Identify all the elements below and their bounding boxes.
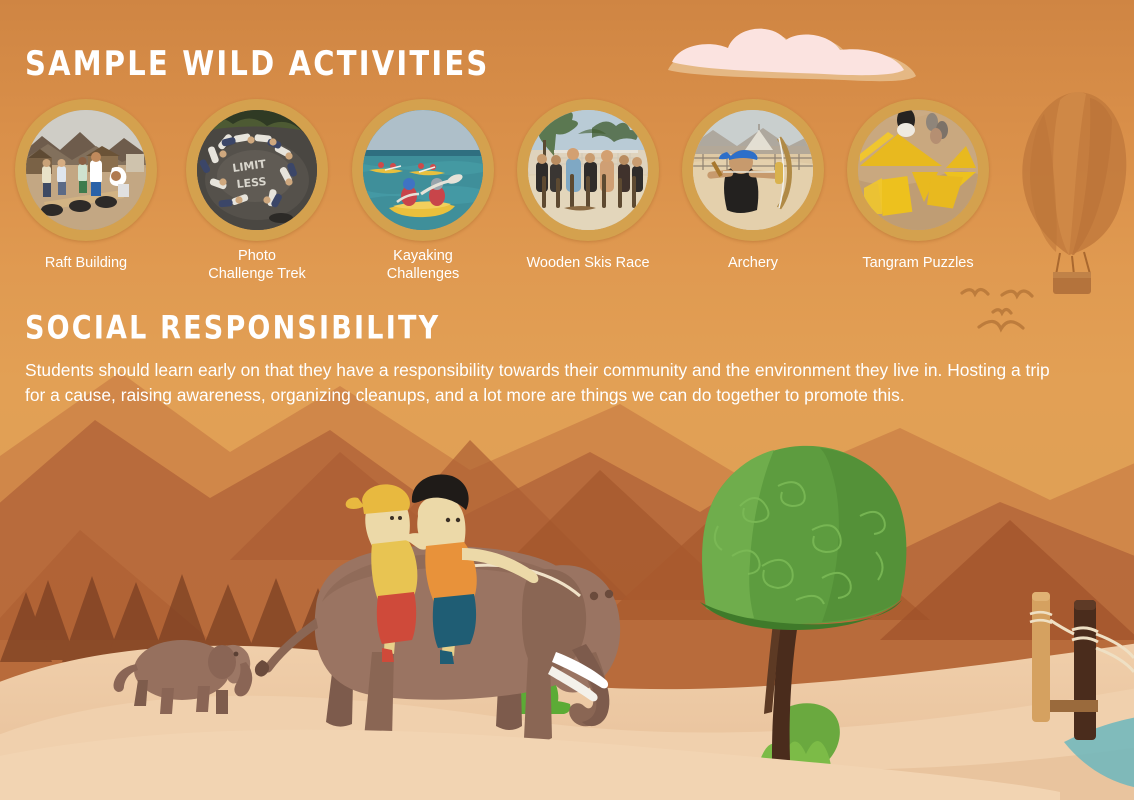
archery-photo (693, 110, 813, 230)
photo-challenge-trek-photo: LIMIT LESS (197, 110, 317, 230)
activity-label-line1: Photo (208, 247, 306, 265)
activity-label: Tangram Puzzles (862, 254, 973, 272)
activity-label-line2: Challenge Trek (208, 265, 306, 283)
activity-label: Raft Building (45, 254, 127, 272)
photo-ring: LIMIT LESS (186, 99, 328, 241)
activity-label: Kayaking Challenges (387, 247, 460, 283)
social-responsibility-body-text: Students should learn early on that they… (25, 358, 1053, 408)
photo-ring (15, 99, 157, 241)
activity-label: Photo Challenge Trek (208, 247, 306, 283)
activity-item-archery[interactable]: Archery (682, 99, 824, 241)
activity-label-line1: Archery (728, 255, 778, 271)
activity-item-wooden-skis-race[interactable]: Wooden Skis Race (517, 99, 659, 241)
raft-building-photo (26, 110, 146, 230)
activity-label-line1: Tangram Puzzles (862, 255, 973, 271)
poster-canvas: SAMPLE WILD ACTIVITIES (0, 0, 1134, 800)
activity-item-tangram-puzzles[interactable]: Tangram Puzzles (847, 99, 989, 241)
photo-ring (682, 99, 824, 241)
kayaking-challenges-photo (363, 110, 483, 230)
wooden-skis-race-photo (528, 110, 648, 230)
activity-label-line1: Wooden Skis Race (526, 255, 649, 271)
photo-ring (352, 99, 494, 241)
activity-label-line1: Raft Building (45, 255, 127, 271)
photo-ring (847, 99, 989, 241)
activities-circle-row: Raft Building LIM (0, 99, 1134, 299)
activity-label-line2: Challenges (387, 265, 460, 283)
tangram-puzzles-photo (858, 110, 978, 230)
activity-item-photo-challenge-trek[interactable]: LIMIT LESS (186, 99, 328, 241)
activity-label-line1: Kayaking (387, 247, 460, 265)
activity-item-kayaking-challenges[interactable]: Kayaking Challenges (352, 99, 494, 241)
activity-label: Archery (728, 254, 778, 272)
activity-label: Wooden Skis Race (526, 254, 649, 272)
photo-ring (517, 99, 659, 241)
activity-item-raft-building[interactable]: Raft Building (15, 99, 157, 241)
page-title-activities: SAMPLE WILD ACTIVITIES (25, 43, 489, 83)
page-title-social-responsibility: SOCIAL RESPONSIBILITY (25, 310, 440, 347)
content-overlay: SAMPLE WILD ACTIVITIES (0, 0, 1134, 800)
